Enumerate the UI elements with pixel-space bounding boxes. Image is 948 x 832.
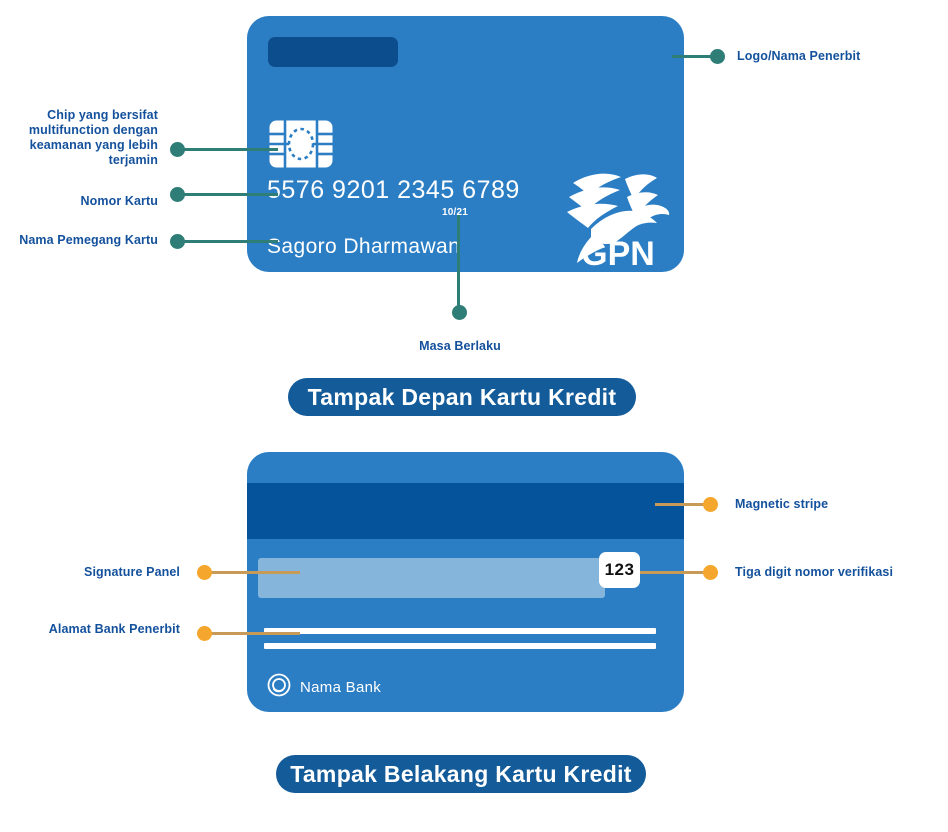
callout-label-card-holder: Nama Pemegang Kartu (18, 233, 158, 248)
callout-dot-chip (170, 142, 185, 157)
callout-line-signature-panel (208, 571, 300, 574)
callout-dot-issuer-logo (710, 49, 725, 64)
bank-address-line-2 (264, 643, 656, 649)
callout-label-issuer-logo: Logo/Nama Penerbit (737, 49, 937, 64)
issuer-logo-placeholder (268, 37, 398, 67)
callout-label-bank-address: Alamat Bank Penerbit (40, 622, 180, 637)
callout-label-expiry: Masa Berlaku (380, 339, 540, 354)
caption-front-card: Tampak Depan Kartu Kredit (288, 378, 636, 416)
caption-back-card: Tampak Belakang Kartu Kredit (276, 755, 646, 793)
bank-mark: Nama Bank (267, 673, 381, 702)
callout-dot-expiry (452, 305, 467, 320)
magnetic-stripe (247, 483, 684, 539)
callout-dot-card-holder (170, 234, 185, 249)
callout-line-card-holder (180, 240, 278, 243)
callout-dot-signature-panel (197, 565, 212, 580)
callout-line-chip (180, 148, 278, 151)
cvv-box: 123 (599, 552, 640, 588)
callout-label-card-number: Nomor Kartu (18, 194, 158, 209)
bank-name: Nama Bank (300, 679, 381, 696)
callout-line-card-number (180, 193, 278, 196)
callout-dot-magnetic-stripe (703, 497, 718, 512)
callout-line-expiry (457, 215, 460, 311)
callout-line-bank-address (208, 632, 300, 635)
card-number: 5576 9201 2345 6789 (267, 176, 520, 205)
card-expiry: 10/21 (442, 207, 468, 218)
callout-dot-cvv (703, 565, 718, 580)
emv-chip-icon (269, 120, 333, 168)
callout-label-chip: Chip yang bersifat multifunction dengan … (18, 108, 158, 168)
gpn-bird-icon: GPN (563, 165, 673, 273)
credit-card-back: 123 Nama Bank (247, 452, 684, 712)
callout-dot-card-number (170, 187, 185, 202)
card-holder-name: Sagoro Dharmawan (267, 235, 460, 259)
callout-label-signature-panel: Signature Panel (40, 565, 180, 580)
callout-label-cvv: Tiga digit nomor verifikasi (735, 565, 945, 580)
credit-card-front: 5576 9201 2345 6789 10/21 Sagoro Dharmaw… (247, 16, 684, 272)
concentric-circles-icon (267, 673, 291, 702)
infographic-canvas: 5576 9201 2345 6789 10/21 Sagoro Dharmaw… (0, 0, 948, 832)
bank-address-line-1 (264, 628, 656, 634)
gpn-wordmark: GPN (581, 235, 655, 273)
callout-line-issuer-logo (672, 55, 714, 58)
callout-dot-bank-address (197, 626, 212, 641)
callout-label-magnetic-stripe: Magnetic stripe (735, 497, 935, 512)
signature-panel (258, 558, 605, 598)
